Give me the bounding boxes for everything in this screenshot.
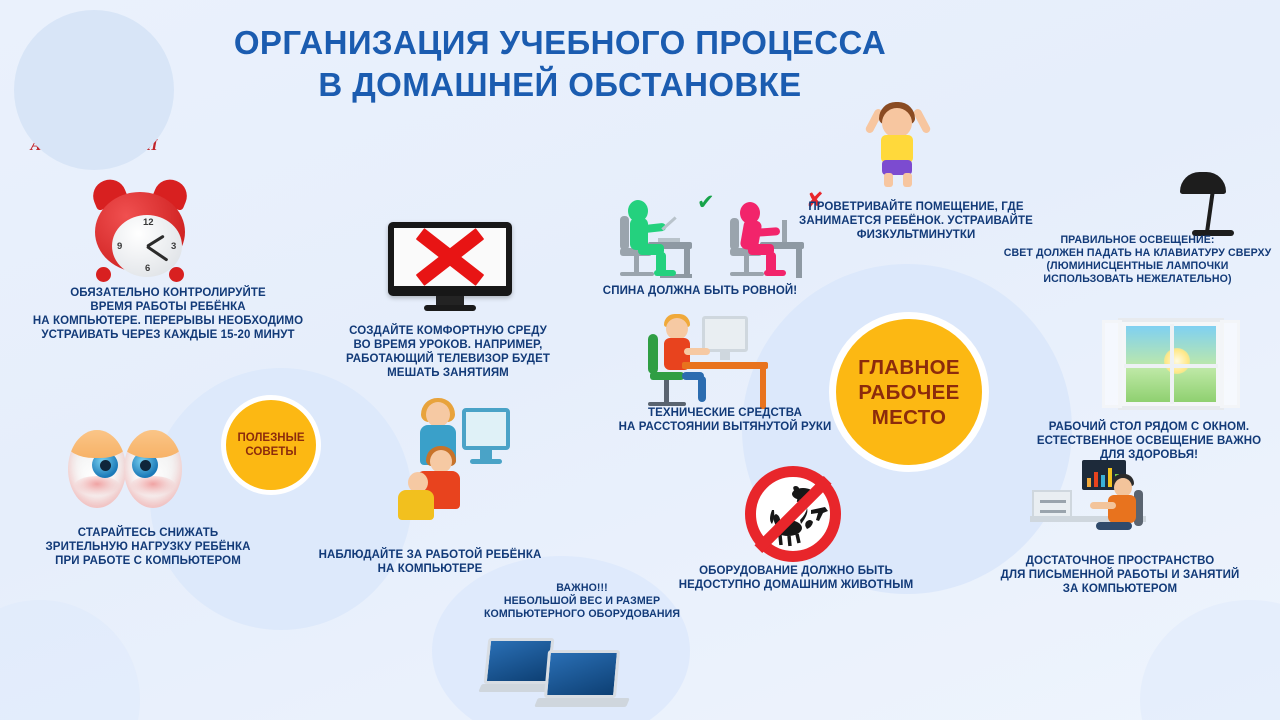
good-posture-check-icon: ✔: [697, 190, 715, 215]
laptop-front-screen: [544, 650, 620, 698]
eye-left-redness: [74, 476, 120, 496]
man-at-desk-icon: [1022, 460, 1150, 550]
mandesk-chart-bar-1: [1087, 478, 1091, 487]
deskkid-monitor: [702, 316, 748, 352]
family-second-child-body: [398, 490, 434, 520]
bad-chair-feet: [730, 272, 764, 276]
kid-leg-right: [903, 173, 912, 187]
family-mother-head: [426, 402, 450, 427]
clock-num-6: 6: [145, 263, 150, 274]
deskkid-table-top: [682, 362, 768, 369]
tv-base: [424, 305, 476, 311]
bad-foot: [764, 270, 786, 276]
kid-arm-right: [912, 108, 931, 135]
tip-computer-time-line-1: ОБЯЗАТЕЛЬНО КОНТРОЛИРУЙТЕ: [8, 286, 328, 300]
tips-badge-line-1: ПОЛЕЗНЫЕ: [237, 432, 304, 444]
deskkid-table-leg: [760, 369, 766, 409]
family-at-computer-icon: [390, 398, 525, 528]
tip-comfort-line-2: ВО ВРЕМЯ УРОКОВ. НАПРИМЕР,: [312, 338, 584, 352]
tips-badge-label: ПОЛЕЗНЫЕ СОВЕТЫ: [237, 431, 304, 459]
clock-num-12: 12: [143, 217, 154, 228]
tip-desk-near-window-text: РАБОЧИЙ СТОЛ РЯДОМ С ОКНОМ. ЕСТЕСТВЕННОЕ…: [1018, 420, 1280, 462]
open-window-icon: [1118, 318, 1224, 410]
tip-window-line-2: ЕСТЕСТВЕННОЕ ОСВЕЩЕНИЕ ВАЖНО: [1018, 434, 1280, 448]
mandesk-arm: [1090, 502, 1116, 509]
tip-weight-line-2: НЕБОЛЬШОЙ ВЕС И РАЗМЕР: [452, 595, 712, 608]
kid-leg-left: [884, 173, 893, 187]
tips-badge-disc: ПОЛЕЗНЫЕ СОВЕТЫ: [221, 395, 321, 495]
tip-ventilation-line-1: ПРОВЕТРИВАЙТЕ ПОМЕЩЕНИЕ, ГДЕ: [785, 200, 1047, 214]
tip-supervise-text: НАБЛЮДАЙТЕ ЗА РАБОТОЙ РЕБЁНКА НА КОМПЬЮТ…: [290, 548, 570, 576]
good-chair-pole: [634, 256, 639, 272]
tip-ventilation-line-2: ЗАНИМАЕТСЯ РЕБЁНОК. УСТРАИВАЙТЕ: [785, 214, 1047, 228]
tip-supervise-line-1: НАБЛЮДАЙТЕ ЗА РАБОТОЙ РЕБЁНКА: [290, 548, 570, 562]
tip-space-line-1: ДОСТАТОЧНОЕ ПРОСТРАНСТВО: [975, 554, 1265, 568]
bad-desk-leg: [796, 248, 802, 278]
main-badge-line-3: МЕСТО: [872, 406, 947, 429]
window-pane-left: [1102, 320, 1122, 408]
academ-lyceum-logo: АКАДЕМЛИЦЕЙ: [14, 10, 174, 170]
family-child-head: [430, 450, 452, 473]
main-badge-line-1: ГЛАВНОЕ: [858, 356, 960, 379]
lamp-arm: [1205, 190, 1215, 232]
logo-oval-background: [14, 10, 174, 170]
family-monitor-stand: [480, 450, 492, 459]
bad-chair-pole: [744, 256, 749, 272]
main-badge-label: ГЛАВНОЕ РАБОЧЕЕ МЕСТО: [858, 355, 960, 430]
tip-computer-time-line-4: УСТРАИВАТЬ ЧЕРЕЗ КАЖДЫЕ 15-20 МИНУТ: [8, 328, 328, 342]
tip-computer-time-line-2: ВРЕМЯ РАБОТЫ РЕБЁНКА: [8, 300, 328, 314]
clock-num-3: 3: [171, 241, 176, 252]
desk-lamp-icon: [1172, 172, 1252, 242]
tip-space-line-3: ЗА КОМПЬЮТЕРОМ: [975, 582, 1265, 596]
deskkid-chair-back: [648, 334, 658, 374]
mandesk-drawer-1: [1040, 500, 1066, 503]
good-chair-back: [620, 216, 629, 250]
mandesk-chart-bar-2: [1094, 472, 1098, 487]
title-line-1: ОРГАНИЗАЦИЯ УЧЕБНОГО ПРОЦЕССА: [175, 22, 945, 64]
laptop-back-screen: [484, 638, 555, 684]
stretching-child-icon: [862, 88, 934, 186]
main-badge-line-2: РАБОЧЕЕ: [858, 381, 959, 404]
tv-crossed-out-icon: [388, 222, 512, 314]
good-foot: [654, 270, 676, 276]
tips-badge-line-2: СОВЕТЫ: [245, 446, 296, 458]
tip-eye-line-2: ЗРИТЕЛЬНУЮ НАГРУЗКУ РЕБЁНКА: [8, 540, 288, 554]
tip-lighting-line-1: ПРАВИЛЬНОЕ ОСВЕЩЕНИЕ:: [995, 234, 1280, 247]
eye-right-pupil: [140, 460, 151, 471]
no-pets-sign-icon: [745, 466, 841, 562]
tip-weight-line-3: КОМПЬЮТЕРНОГО ОБОРУДОВАНИЯ: [452, 608, 712, 621]
deskkid-monitor-stand: [720, 352, 730, 360]
clock-foot-left: [96, 267, 111, 282]
tip-comfort-line-4: МЕШАТЬ ЗАНЯТИЯМ: [312, 366, 584, 380]
tip-no-pets-text: ОБОРУДОВАНИЕ ДОЛЖНО БЫТЬ НЕДОСТУПНО ДОМА…: [665, 564, 927, 592]
tip-straight-back-line-1: СПИНА ДОЛЖНА БЫТЬ РОВНОЙ!: [580, 284, 820, 298]
deskkid-shin: [698, 376, 706, 402]
clock-hand-minute: [146, 245, 168, 261]
decorative-circle-bottom-left: [0, 600, 140, 720]
deskkid-chair-seat: [650, 372, 684, 380]
good-chair-feet: [620, 272, 654, 276]
child-at-desk-icon: [640, 310, 770, 420]
family-monitor: [462, 408, 510, 450]
tip-straight-back-text: СПИНА ДОЛЖНА БЫТЬ РОВНОЙ!: [580, 284, 820, 298]
kid-shirt: [881, 135, 913, 163]
eye-left-lid: [68, 430, 126, 458]
eye-right: [124, 430, 182, 508]
page-title: ОРГАНИЗАЦИЯ УЧЕБНОГО ПРОЦЕССА В ДОМАШНЕЙ…: [175, 22, 945, 106]
mandesk-drawer-2: [1040, 510, 1066, 513]
eye-left: [68, 430, 126, 508]
tip-eye-line-1: СТАРАЙТЕСЬ СНИЖАТЬ: [8, 526, 288, 540]
decorative-circle-bottom-right: [1140, 600, 1280, 720]
deskkid-head: [666, 318, 688, 340]
posture-good-figure: [612, 196, 692, 278]
tip-comfortable-environment-text: СОЗДАЙТЕ КОМФОРТНУЮ СРЕДУ ВО ВРЕМЯ УРОКО…: [312, 324, 584, 380]
tip-supervise-line-2: НА КОМПЬЮТЕРЕ: [290, 562, 570, 576]
bad-arm: [754, 227, 780, 237]
deskkid-arm: [684, 348, 710, 355]
tip-lighting-line-2: СВЕТ ДОЛЖЕН ПАДАТЬ НА КЛАВИАТУРУ СВЕРХУ: [995, 247, 1280, 260]
deskkid-chair-pole: [664, 380, 669, 402]
window-frame: [1118, 318, 1224, 410]
title-line-2: В ДОМАШНЕЙ ОБСТАНОВКЕ: [175, 64, 945, 106]
tv-stand: [436, 296, 464, 305]
clock-body: 12 3 6 9: [95, 192, 185, 272]
window-sun-glow-icon: [1164, 348, 1190, 374]
clock-face: 12 3 6 9: [112, 215, 182, 277]
tv-frame: [388, 222, 512, 296]
useful-tips-badge: ПОЛЕЗНЫЕ СОВЕТЫ: [196, 370, 346, 520]
tip-computer-time-line-3: НА КОМПЬЮТЕРЕ. ПЕРЕРЫВЫ НЕОБХОДИМО: [8, 314, 328, 328]
tip-computer-time-text: ОБЯЗАТЕЛЬНО КОНТРОЛИРУЙТЕ ВРЕМЯ РАБОТЫ Р…: [8, 286, 328, 342]
tired-eyes-icon: [68, 424, 186, 510]
lamp-shade: [1180, 172, 1226, 194]
tip-eye-line-3: ПРИ РАБОТЕ С КОМПЬЮТЕРОМ: [8, 554, 288, 568]
mandesk-body: [1108, 495, 1136, 523]
laptops-icon: [480, 632, 640, 712]
window-pane-right: [1220, 320, 1240, 408]
eye-right-redness: [130, 476, 176, 496]
mandesk-legs: [1096, 522, 1132, 530]
tip-eye-strain-text: СТАРАЙТЕСЬ СНИЖАТЬ ЗРИТЕЛЬНУЮ НАГРУЗКУ Р…: [8, 526, 288, 568]
tip-lighting-line-4: ИСПОЛЬЗОВАТЬ НЕЖЕЛАТЕЛЬНО): [995, 273, 1280, 286]
tv-screen: [394, 228, 506, 286]
clock-num-9: 9: [117, 241, 122, 252]
tip-lighting-text: ПРАВИЛЬНОЕ ОСВЕЩЕНИЕ: СВЕТ ДОЛЖЕН ПАДАТЬ…: [995, 234, 1280, 286]
tip-lighting-line-3: (ЛЮМИНИСЦЕНТНЫЕ ЛАМПОЧКИ: [995, 260, 1280, 273]
tip-window-line-1: РАБОЧИЙ СТОЛ РЯДОМ С ОКНОМ.: [1018, 420, 1280, 434]
eye-right-lid: [124, 430, 182, 458]
alarm-clock-icon: 12 3 6 9: [88, 178, 192, 282]
tip-space-line-2: ДЛЯ ПИСЬМЕННОЙ РАБОТЫ И ЗАНЯТИЙ: [975, 568, 1265, 582]
tip-comfort-line-1: СОЗДАЙТЕ КОМФОРТНУЮ СРЕДУ: [312, 324, 584, 338]
main-badge-disc: ГЛАВНОЕ РАБОЧЕЕ МЕСТО: [829, 312, 989, 472]
bad-chair-back: [730, 218, 739, 250]
tip-comfort-line-3: РАБОТАЮЩИЙ ТЕЛЕВИЗОР БУДЕТ: [312, 352, 584, 366]
eye-left-pupil: [100, 460, 111, 471]
tip-enough-space-text: ДОСТАТОЧНОЕ ПРОСТРАНСТВО ДЛЯ ПИСЬМЕННОЙ …: [975, 554, 1265, 596]
clock-foot-right: [169, 267, 184, 282]
tip-pets-line-1: ОБОРУДОВАНИЕ ДОЛЖНО БЫТЬ: [665, 564, 927, 578]
tip-pets-line-2: НЕДОСТУПНО ДОМАШНИМ ЖИВОТНЫМ: [665, 578, 927, 592]
window-mullion-horizontal: [1124, 364, 1218, 368]
good-laptop-base: [658, 238, 680, 242]
laptop-front-keyboard: [534, 698, 630, 707]
kid-head: [882, 108, 912, 138]
family-monitor-base: [470, 459, 502, 464]
infographic-poster: АКАДЕМЛИЦЕЙ ОРГАНИЗАЦИЯ УЧЕБНОГО ПРОЦЕСС…: [0, 0, 1280, 720]
mandesk-chart-bar-3: [1101, 475, 1105, 487]
